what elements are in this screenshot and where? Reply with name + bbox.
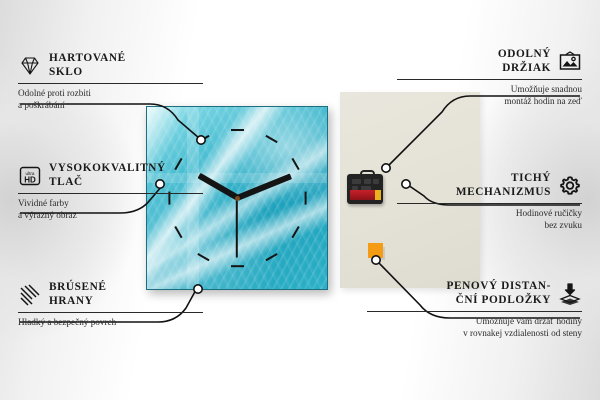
clock-second-hand [236,198,238,258]
mechanism-slot [352,179,361,184]
feature-divider [397,79,582,80]
feature-title: HARTOVANÉ SKLO [49,52,126,79]
clock-tick [231,265,244,267]
feature-header: BRÚSENÉ HRANY [18,281,203,308]
feature-description-line1: Vividné farby [18,198,203,210]
clock-center-hub [235,196,240,201]
feature-hartovane-sklo: HARTOVANÉ SKLO Odolné proti rozbiti a po… [18,52,203,111]
feature-divider [18,312,203,313]
feature-description-line2: a poškrábání [18,100,203,112]
picture-hanger-icon [558,50,582,74]
feature-odolny-drziak: ODOLNÝ DRŽIAK Umožňuje snadnou montáž ho… [397,48,582,107]
feature-title: BRÚSENÉ HRANY [49,281,107,308]
feature-title: TICHÝ MECHANIZMUS [456,172,551,199]
feature-penovy-distancni-podlozky: PENOVÝ DISTAN- ČNÍ PODLOŽKY Umožňuje vám… [367,280,582,339]
feature-header: TICHÝ MECHANIZMUS [397,172,582,199]
feature-description-line1: Odolné proti rozbiti [18,88,203,100]
feature-header: ODOLNÝ DRŽIAK [397,48,582,75]
feature-title: PENOVÝ DISTAN- ČNÍ PODLOŽKY [446,280,551,307]
feature-tichy-mechanizmus: TICHÝ MECHANIZMUS Hodinové ručičky bez z… [397,172,582,231]
ultra-hd-icon: ultra HD [18,164,42,188]
feature-divider [18,193,203,194]
feature-header: PENOVÝ DISTAN- ČNÍ PODLOŽKY [367,280,582,307]
feature-header: ultra HD VYSOKOKVALITNÝ TLAČ [18,162,203,189]
feature-description-line1: Umožňuje vám držať hodiny [367,316,582,328]
feature-title: ODOLNÝ DRŽIAK [498,48,551,75]
battery-positive-terminal [375,190,381,200]
feature-description-line1: Hodinové ručičky [397,208,582,220]
mechanism-slot [373,179,379,184]
mechanism-slot [364,179,371,184]
feature-description-line2: bez zvuku [397,220,582,232]
feature-description-line2: a výrazný obraz [18,210,203,222]
feature-description-line2: montáž hodin na zeď [397,96,582,108]
feature-divider [397,203,582,204]
feature-description-line1: Umožňuje snadnou [397,84,582,96]
feature-vysokokvalitny-tlac: ultra HD VYSOKOKVALITNÝ TLAČ Vividné far… [18,162,203,221]
diamond-icon [18,54,42,78]
feature-divider [367,311,582,312]
feature-description-line2: v rovnakej vzdialenosti od steny [367,328,582,340]
feature-description-line1: Hladký a bezpečný povrch [18,317,203,329]
feature-brusene-hrany: BRÚSENÉ HRANY Hladký a bezpečný povrch [18,281,203,329]
foam-spacer-pad-image [368,243,383,258]
clock-mechanism-image [347,170,383,204]
foam-spacer-icon [558,282,582,306]
polished-edges-icon [18,283,42,307]
infographic-canvas: HARTOVANÉ SKLO Odolné proti rozbiti a po… [0,0,600,400]
clock-tick [231,129,244,131]
gear-icon [558,174,582,198]
feature-title: VYSOKOKVALITNÝ TLAČ [49,162,166,189]
feature-header: HARTOVANÉ SKLO [18,52,203,79]
svg-text:HD: HD [24,175,36,184]
clock-tick [304,191,306,204]
feature-divider [18,83,203,84]
